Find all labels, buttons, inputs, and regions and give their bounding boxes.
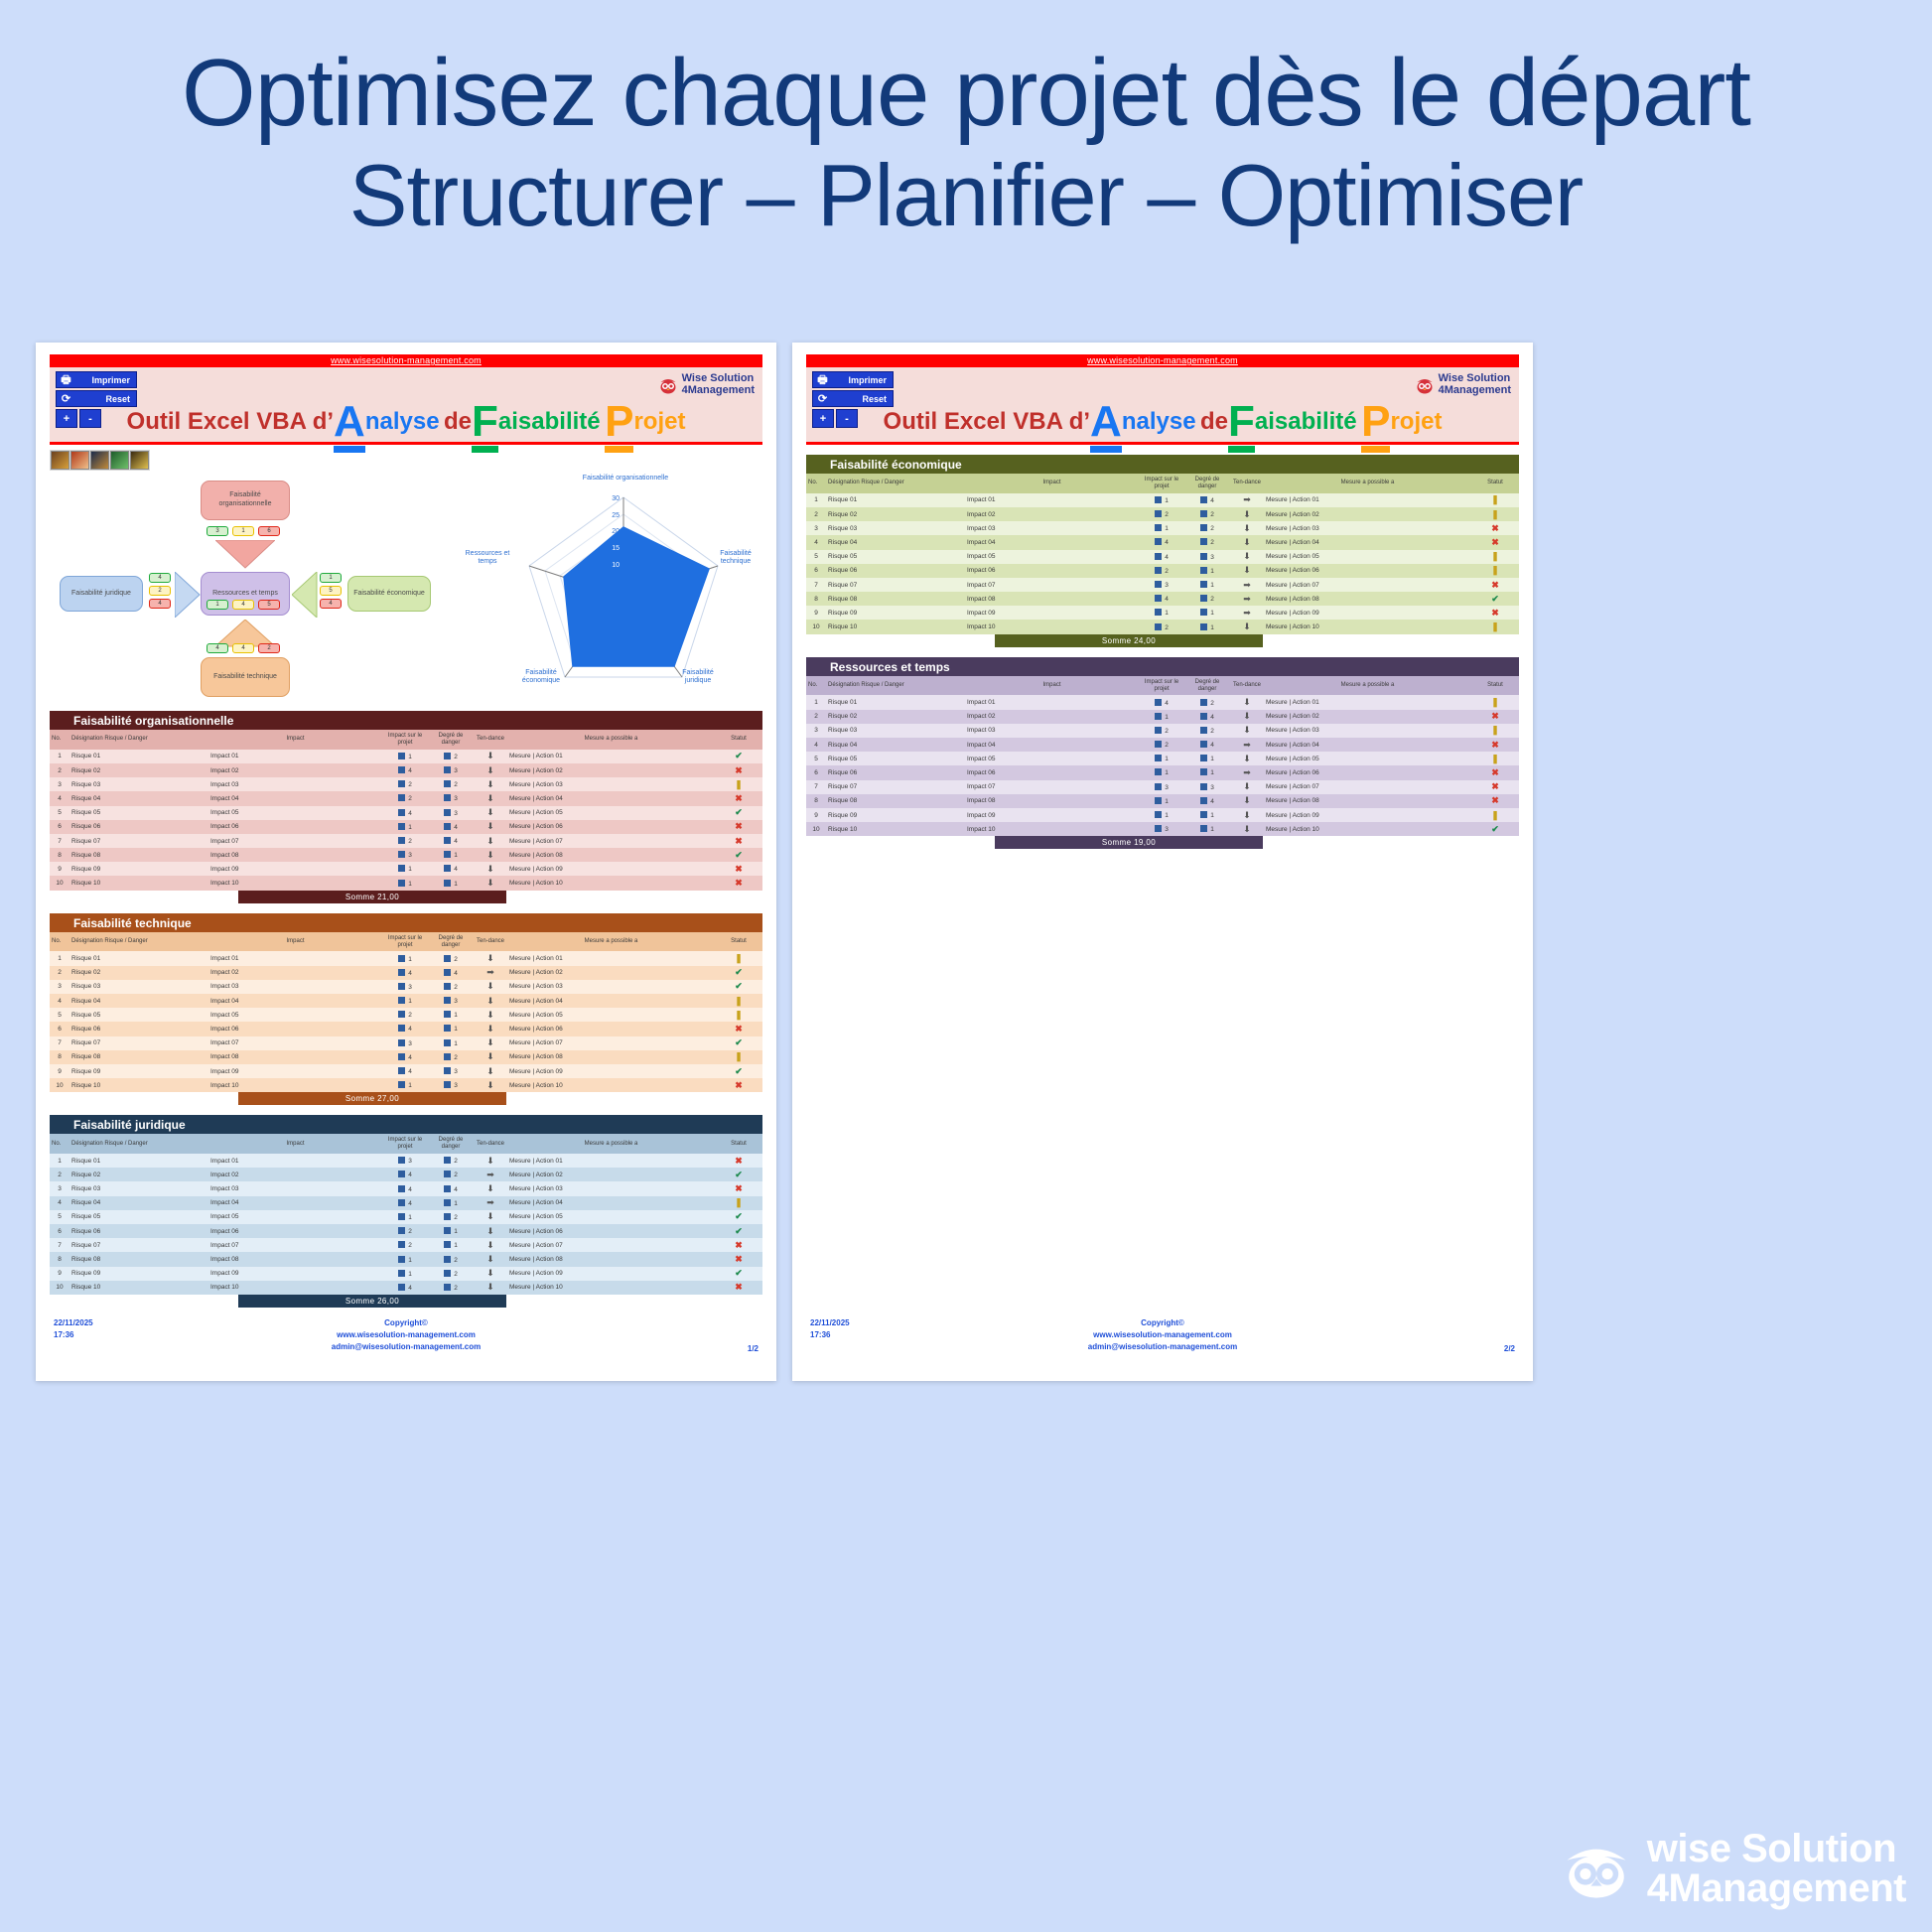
- cell-no: 1: [806, 695, 826, 709]
- cell-designation: Risque 04: [69, 791, 208, 805]
- watermark-line-1: wise Solution: [1647, 1827, 1896, 1870]
- cell-statut: ✖: [715, 862, 762, 876]
- cell-impact-projet: 1: [382, 1252, 428, 1266]
- cell-tendance: ➡: [1230, 578, 1264, 592]
- cell-mesure: Mesure | Action 02: [507, 1168, 715, 1181]
- status-ok-icon: ✔: [735, 1170, 743, 1179]
- cell-tendance: ⬇: [474, 1154, 507, 1168]
- cell-impact: Impact 10: [965, 620, 1139, 633]
- cell-degre-danger: 4: [1184, 794, 1230, 808]
- chips-juridique: 4 2 4: [149, 573, 171, 609]
- balance-scale-icon[interactable]: [90, 451, 109, 470]
- page-2-footer: 22/11/2025 17:36 Copyright© www.wisesolu…: [806, 1317, 1519, 1353]
- table-row[interactable]: 10Risque 10Impact 1011⬇Mesure | Action 1…: [50, 876, 762, 890]
- cell-degre-danger: 2: [1184, 592, 1230, 606]
- cell-no: 3: [806, 521, 826, 535]
- table-row[interactable]: 4Risque 04Impact 0441➡Mesure | Action 04…: [50, 1196, 762, 1210]
- mini-icon-toolbar[interactable]: [50, 450, 150, 471]
- table-row[interactable]: 1Risque 01Impact 0132⬇Mesure | Action 01…: [50, 1154, 762, 1168]
- trend-down-icon: ⬇: [486, 821, 494, 831]
- cell-impact: Impact 04: [208, 1196, 382, 1210]
- table-row[interactable]: 5Risque 05Impact 0543⬇Mesure | Action 05…: [50, 806, 762, 820]
- bar-icon: [444, 1171, 451, 1177]
- footer-page-number: 1/2: [748, 1344, 759, 1353]
- status-no-icon: ✖: [735, 1156, 743, 1166]
- sum-value-technique: Somme 27,00: [238, 1092, 506, 1105]
- table-row[interactable]: 2Risque 02Impact 0214⬇Mesure | Action 02…: [806, 710, 1519, 724]
- cell-impact: Impact 05: [208, 1210, 382, 1224]
- bar-icon: [1155, 741, 1162, 748]
- cell-mesure: Mesure | Action 01: [1264, 695, 1471, 709]
- cell-mesure: Mesure | Action 10: [507, 1281, 715, 1295]
- cell-impact-projet: 1: [382, 1267, 428, 1281]
- table-row[interactable]: 6Risque 06Impact 0641⬇Mesure | Action 06…: [50, 1022, 762, 1035]
- cell-mesure: Mesure | Action 05: [507, 1210, 715, 1224]
- footer-email[interactable]: admin@wisesolution-management.com: [50, 1341, 762, 1353]
- sum-value-juridique: Somme 26,00: [238, 1295, 506, 1308]
- table-row[interactable]: 9Risque 09Impact 0912⬇Mesure | Action 09…: [50, 1267, 762, 1281]
- bar-icon: [444, 1284, 451, 1291]
- table-row[interactable]: 9Risque 09Impact 0911➡Mesure | Action 09…: [806, 606, 1519, 620]
- cell-degre-danger: 3: [428, 1064, 474, 1078]
- cell-degre-danger: 4: [1184, 710, 1230, 724]
- money-icon[interactable]: [110, 451, 129, 470]
- cell-statut: ✖: [1471, 535, 1519, 549]
- cell-designation: Risque 09: [69, 1064, 208, 1078]
- arrow-right-jur: [175, 572, 201, 618]
- cell-degre-danger: 1: [428, 1008, 474, 1022]
- table-row[interactable]: 3Risque 03Impact 0332⬇Mesure | Action 03…: [50, 980, 762, 994]
- table-row[interactable]: 5Risque 05Impact 0543⬇Mesure | Action 05…: [806, 550, 1519, 564]
- table-row[interactable]: 9Risque 09Impact 0914⬇Mesure | Action 09…: [50, 862, 762, 876]
- bar-icon: [398, 1171, 405, 1177]
- column-header-1: Désignation Risque / Danger: [826, 474, 965, 493]
- bar-icon: [398, 983, 405, 990]
- cell-designation: Risque 05: [826, 752, 965, 765]
- cell-designation: Risque 04: [826, 738, 965, 752]
- table-row[interactable]: 5Risque 05Impact 0512⬇Mesure | Action 05…: [50, 1210, 762, 1224]
- cell-designation: Risque 02: [826, 710, 965, 724]
- cell-mesure: Mesure | Action 06: [507, 1224, 715, 1238]
- cell-no: 4: [806, 738, 826, 752]
- node-organisationnelle[interactable]: Faisabilité organisationnelle: [201, 481, 290, 520]
- cell-tendance: ⬇: [474, 1238, 507, 1252]
- cell-impact-projet: 1: [382, 1078, 428, 1092]
- footer-datetime: 22/11/2025 17:36: [54, 1317, 93, 1341]
- cell-designation: Risque 02: [826, 507, 965, 521]
- cell-impact: Impact 08: [208, 1252, 382, 1266]
- footer-copyright: Copyright©: [50, 1317, 762, 1329]
- cell-tendance: ⬇: [1230, 550, 1264, 564]
- bar-icon: [444, 1241, 451, 1248]
- table-row[interactable]: 4Risque 04Impact 0442⬇Mesure | Action 04…: [806, 535, 1519, 549]
- cell-tendance: ⬇: [1230, 564, 1264, 578]
- table-row[interactable]: 10Risque 10Impact 1021⬇Mesure | Action 1…: [806, 620, 1519, 633]
- bar-icon: [398, 865, 405, 872]
- column-header-7: Statut: [1471, 474, 1519, 493]
- footer-website[interactable]: www.wisesolution-management.com: [50, 1329, 762, 1341]
- column-header-2: Impact: [208, 730, 382, 750]
- status-wa-icon: ❚: [1491, 725, 1499, 735]
- cell-tendance: ➡: [474, 1196, 507, 1210]
- status-wa-icon: ❚: [735, 996, 743, 1006]
- radar-label-2-text: Faisabilité juridique: [682, 669, 714, 684]
- table-row[interactable]: 9Risque 09Impact 0943⬇Mesure | Action 09…: [50, 1064, 762, 1078]
- cell-statut: ✖: [715, 820, 762, 834]
- cell-designation: Risque 02: [69, 1168, 208, 1181]
- risk-table-juridique: No.Désignation Risque / DangerImpactImpa…: [50, 1134, 762, 1295]
- cell-degre-danger: 3: [428, 994, 474, 1008]
- node-economique[interactable]: Faisabilité économique: [347, 576, 431, 612]
- table-row[interactable]: 4Risque 04Impact 0423⬇Mesure | Action 04…: [50, 791, 762, 805]
- sum-value-organisationnelle: Somme 21,00: [238, 891, 506, 903]
- trend-down-icon: ⬇: [486, 836, 494, 846]
- cell-mesure: Mesure | Action 02: [507, 763, 715, 777]
- header-website-link-p2[interactable]: www.wisesolution-management.com: [806, 354, 1519, 367]
- status-no-icon: ✖: [1491, 523, 1499, 533]
- trend-down-icon: ⬇: [486, 1183, 494, 1193]
- cell-tendance: ⬇: [474, 777, 507, 791]
- cell-impact-projet: 4: [382, 806, 428, 820]
- bar-icon: [1155, 553, 1162, 560]
- status-ok-icon: ✔: [1491, 824, 1499, 834]
- table-row[interactable]: 3Risque 03Impact 0344⬇Mesure | Action 03…: [50, 1181, 762, 1195]
- page-2-tables: Faisabilité économiqueNo.Désignation Ris…: [806, 455, 1519, 849]
- trend-down-icon: ⬇: [486, 751, 494, 760]
- cell-impact: Impact 06: [965, 564, 1139, 578]
- table-row[interactable]: 7Risque 07Impact 0724⬇Mesure | Action 07…: [50, 834, 762, 848]
- cell-designation: Risque 05: [69, 1210, 208, 1224]
- cell-mesure: Mesure | Action 08: [1264, 794, 1471, 808]
- cell-designation: Risque 04: [69, 1196, 208, 1210]
- cell-impact: Impact 07: [208, 1036, 382, 1050]
- radar-label-ressources: Ressources et temps: [461, 550, 514, 567]
- bar-icon: [444, 1053, 451, 1060]
- cell-statut: ✖: [1471, 794, 1519, 808]
- cell-designation: Risque 06: [69, 1022, 208, 1035]
- cell-tendance: ⬇: [1230, 822, 1264, 836]
- cell-statut: ✔: [715, 848, 762, 862]
- table-row[interactable]: 2Risque 02Impact 0222⬇Mesure | Action 02…: [806, 507, 1519, 521]
- bar-icon: [1155, 713, 1162, 720]
- cell-impact: Impact 09: [965, 808, 1139, 822]
- status-wa-icon: ❚: [1491, 494, 1499, 504]
- trend-down-icon: ⬇: [486, 1268, 494, 1278]
- cell-no: 5: [806, 550, 826, 564]
- chip-green-eco: 1: [320, 573, 342, 583]
- chips-technique: 4 4 2: [207, 643, 280, 653]
- trend-right-icon: ➡: [1243, 608, 1251, 618]
- cell-mesure: Mesure | Action 07: [1264, 780, 1471, 794]
- cell-degre-danger: 4: [428, 1181, 474, 1195]
- cell-impact-projet: 1: [382, 994, 428, 1008]
- cell-statut: ✖: [715, 876, 762, 890]
- cell-designation: Risque 03: [826, 521, 965, 535]
- radar-label-economique: Faisabilité économique: [514, 669, 568, 686]
- cell-degre-danger: 1: [428, 1196, 474, 1210]
- trend-down-icon: ⬇: [486, 1024, 494, 1034]
- cell-impact-projet: 1: [1139, 521, 1184, 535]
- cell-impact-projet: 2: [1139, 507, 1184, 521]
- status-ok-icon: ✔: [1491, 594, 1499, 604]
- cell-no: 1: [50, 750, 69, 763]
- app-header-bar-p2: 🖶 Imprimer ⟳ Reset + -: [806, 367, 1519, 445]
- table-row[interactable]: 6Risque 06Impact 0614⬇Mesure | Action 06…: [50, 820, 762, 834]
- cell-designation: Risque 10: [69, 876, 208, 890]
- table-row[interactable]: 6Risque 06Impact 0611➡Mesure | Action 06…: [806, 765, 1519, 779]
- handshake-icon[interactable]: [70, 451, 89, 470]
- status-no-icon: ✖: [1491, 795, 1499, 805]
- cell-degre-danger: 2: [1184, 535, 1230, 549]
- cell-no: 7: [50, 834, 69, 848]
- chips-organisationnelle: 3 1 6: [207, 526, 280, 536]
- table-row[interactable]: 8Risque 08Impact 0831⬇Mesure | Action 08…: [50, 848, 762, 862]
- table-row[interactable]: 10Risque 10Impact 1042⬇Mesure | Action 1…: [50, 1281, 762, 1295]
- cell-impact: Impact 02: [965, 710, 1139, 724]
- bar-icon: [398, 969, 405, 976]
- table-row[interactable]: 5Risque 05Impact 0511⬇Mesure | Action 05…: [806, 752, 1519, 765]
- brainstorm-icon[interactable]: [51, 451, 69, 470]
- cell-mesure: Mesure | Action 01: [507, 951, 715, 965]
- status-ok-icon: ✔: [735, 850, 743, 860]
- cell-mesure: Mesure | Action 09: [1264, 808, 1471, 822]
- cell-degre-danger: 2: [428, 1281, 474, 1295]
- cell-statut: ✖: [715, 1181, 762, 1195]
- table-row[interactable]: 7Risque 07Impact 0721⬇Mesure | Action 07…: [50, 1238, 762, 1252]
- chip-green-jur: 4: [149, 573, 171, 583]
- page-1-footer: 22/11/2025 17:36 Copyright© www.wisesolu…: [50, 1317, 762, 1353]
- status-ok-icon: ✔: [735, 1037, 743, 1047]
- cell-impact-projet: 1: [1139, 752, 1184, 765]
- cell-impact-projet: 4: [382, 1050, 428, 1064]
- table-row[interactable]: 2Risque 02Impact 0242➡Mesure | Action 02…: [50, 1168, 762, 1181]
- trend-down-icon: ⬇: [486, 765, 494, 775]
- cell-statut: ✖: [715, 1252, 762, 1266]
- cell-no: 6: [806, 765, 826, 779]
- cell-statut: ✔: [715, 1267, 762, 1281]
- trend-down-icon: ⬇: [486, 996, 494, 1006]
- footer-center-p2: Copyright© www.wisesolution-management.c…: [806, 1317, 1519, 1353]
- cell-no: 8: [806, 592, 826, 606]
- table-row[interactable]: 8Risque 08Impact 0842⬇Mesure | Action 08…: [50, 1050, 762, 1064]
- cell-degre-danger: 2: [428, 1267, 474, 1281]
- word-nalyse-p2: nalyse: [1122, 408, 1196, 435]
- bar-icon: [1155, 538, 1162, 545]
- cell-tendance: ⬇: [1230, 752, 1264, 765]
- header-website-link[interactable]: www.wisesolution-management.com: [50, 354, 762, 367]
- node-technique[interactable]: Faisabilité technique: [201, 657, 290, 697]
- bar-icon: [398, 1025, 405, 1032]
- table-row[interactable]: 3Risque 03Impact 0322⬇Mesure | Action 03…: [50, 777, 762, 791]
- cap-a-p2: A: [1090, 397, 1122, 453]
- table-row[interactable]: 1Risque 01Impact 0114➡Mesure | Action 01…: [806, 493, 1519, 507]
- table-row[interactable]: 1Risque 01Impact 0142⬇Mesure | Action 01…: [806, 695, 1519, 709]
- table-row[interactable]: 7Risque 07Impact 0731⬇Mesure | Action 07…: [50, 1036, 762, 1050]
- bar-icon: [398, 780, 405, 787]
- cell-no: 6: [50, 1022, 69, 1035]
- cell-impact: Impact 09: [208, 1267, 382, 1281]
- cell-impact-projet: 2: [1139, 724, 1184, 738]
- cell-no: 1: [806, 493, 826, 507]
- footer-date: 22/11/2025: [54, 1317, 93, 1329]
- table-row[interactable]: 8Risque 08Impact 0812⬇Mesure | Action 08…: [50, 1252, 762, 1266]
- cell-impact-projet: 4: [382, 763, 428, 777]
- cell-designation: Risque 01: [69, 750, 208, 763]
- node-juridique-label: Faisabilité juridique: [71, 590, 131, 599]
- footer-website-p2[interactable]: www.wisesolution-management.com: [806, 1329, 1519, 1341]
- column-header-6: Mesure a possible a: [507, 1134, 715, 1154]
- footer-email-p2[interactable]: admin@wisesolution-management.com: [806, 1341, 1519, 1353]
- node-ressources-label: Ressources et temps: [212, 590, 278, 599]
- cell-tendance: ⬇: [474, 1022, 507, 1035]
- table-row[interactable]: 2Risque 02Impact 0244➡Mesure | Action 02…: [50, 966, 762, 980]
- app-title-p2: Outil Excel VBA d’Analyse deFaisabilité …: [806, 397, 1519, 436]
- cell-designation: Risque 01: [826, 695, 965, 709]
- cell-tendance: ➡: [474, 1168, 507, 1181]
- cell-designation: Risque 10: [69, 1281, 208, 1295]
- status-ok-icon: ✔: [735, 1226, 743, 1236]
- cell-tendance: ⬇: [474, 791, 507, 805]
- cell-tendance: ⬇: [474, 1281, 507, 1295]
- cell-tendance: ⬇: [1230, 710, 1264, 724]
- cell-statut: ❚: [715, 1008, 762, 1022]
- cell-designation: Risque 01: [826, 493, 965, 507]
- table-row[interactable]: 6Risque 06Impact 0621⬇Mesure | Action 06…: [50, 1224, 762, 1238]
- status-wa-icon: ❚: [735, 1010, 743, 1020]
- bar-icon: [1200, 538, 1207, 545]
- column-header-4: Degré de danger: [428, 730, 474, 750]
- cell-impact: Impact 06: [208, 820, 382, 834]
- table-row[interactable]: 7Risque 07Impact 0731➡Mesure | Action 07…: [806, 578, 1519, 592]
- table-row[interactable]: 5Risque 05Impact 0521⬇Mesure | Action 05…: [50, 1008, 762, 1022]
- cell-degre-danger: 1: [1184, 808, 1230, 822]
- status-wa-icon: ❚: [1491, 509, 1499, 519]
- cell-degre-danger: 2: [428, 1252, 474, 1266]
- table-row[interactable]: 2Risque 02Impact 0243⬇Mesure | Action 02…: [50, 763, 762, 777]
- status-no-icon: ✖: [735, 821, 743, 831]
- table-juridique: Faisabilité juridiqueNo.Désignation Risq…: [50, 1115, 762, 1308]
- cell-tendance: ⬇: [474, 876, 507, 890]
- table-organisationnelle: Faisabilité organisationnelleNo.Désignat…: [50, 711, 762, 903]
- cell-tendance: ⬇: [474, 980, 507, 994]
- cell-statut: ❚: [715, 1050, 762, 1064]
- radar-label-juridique: Faisabilité juridique: [671, 669, 725, 686]
- print-button[interactable]: 🖶 Imprimer: [56, 371, 137, 388]
- cell-impact: Impact 02: [208, 1168, 382, 1181]
- table-technique: Faisabilité techniqueNo.Désignation Risq…: [50, 913, 762, 1106]
- cell-degre-danger: 4: [428, 820, 474, 834]
- cell-statut: ✖: [715, 1281, 762, 1295]
- clock-icon[interactable]: [130, 451, 149, 470]
- chip-yellow-eco: 5: [320, 586, 342, 596]
- cell-degre-danger: 2: [428, 980, 474, 994]
- bar-icon: [444, 1227, 451, 1234]
- cell-impact-projet: 2: [382, 834, 428, 848]
- cell-impact: Impact 07: [965, 578, 1139, 592]
- cell-tendance: ⬇: [1230, 620, 1264, 633]
- cell-degre-danger: 2: [1184, 724, 1230, 738]
- table-row[interactable]: 4Risque 04Impact 0424➡Mesure | Action 04…: [806, 738, 1519, 752]
- cell-mesure: Mesure | Action 05: [507, 1008, 715, 1022]
- status-wa-icon: ❚: [735, 1051, 743, 1061]
- bar-icon: [1155, 609, 1162, 616]
- cell-designation: Risque 09: [69, 1267, 208, 1281]
- table-row[interactable]: 7Risque 07Impact 0733⬇Mesure | Action 07…: [806, 780, 1519, 794]
- bar-icon: [398, 794, 405, 801]
- cell-no: 9: [806, 606, 826, 620]
- status-no-icon: ✖: [1491, 740, 1499, 750]
- cell-impact-projet: 2: [382, 777, 428, 791]
- trend-down-icon: ⬇: [1243, 725, 1251, 735]
- column-header-1: Désignation Risque / Danger: [69, 932, 208, 952]
- bar-icon: [444, 1011, 451, 1018]
- cell-statut: ❚: [1471, 550, 1519, 564]
- status-no-icon: ✖: [1491, 608, 1499, 618]
- table-row[interactable]: 9Risque 09Impact 0911⬇Mesure | Action 09…: [806, 808, 1519, 822]
- cell-no: 6: [50, 1224, 69, 1238]
- word-nalyse: nalyse: [365, 408, 440, 435]
- cell-no: 10: [50, 1078, 69, 1092]
- cell-statut: ❚: [1471, 808, 1519, 822]
- bar-icon: [1155, 524, 1162, 531]
- chips-ressources: 1 4 5: [207, 600, 280, 610]
- table-row[interactable]: 4Risque 04Impact 0413⬇Mesure | Action 04…: [50, 994, 762, 1008]
- trend-down-icon: ⬇: [1243, 697, 1251, 707]
- print-button-p2[interactable]: 🖶 Imprimer: [812, 371, 894, 388]
- trend-right-icon: ➡: [486, 967, 494, 977]
- status-wa-icon: ❚: [735, 953, 743, 963]
- cell-no: 10: [806, 822, 826, 836]
- chip-green-org: 3: [207, 526, 228, 536]
- cell-no: 2: [50, 763, 69, 777]
- app-title-prefix-p2: Outil Excel VBA d’: [884, 408, 1091, 435]
- table-row[interactable]: 8Risque 08Impact 0814⬇Mesure | Action 08…: [806, 794, 1519, 808]
- bar-icon: [1200, 783, 1207, 790]
- column-header-7: Statut: [715, 1134, 762, 1154]
- table-row[interactable]: 3Risque 03Impact 0312⬇Mesure | Action 03…: [806, 521, 1519, 535]
- table-title-juridique: Faisabilité juridique: [50, 1115, 762, 1134]
- cell-tendance: ⬇: [474, 806, 507, 820]
- bar-icon: [444, 823, 451, 830]
- table-row[interactable]: 3Risque 03Impact 0322⬇Mesure | Action 03…: [806, 724, 1519, 738]
- bar-icon: [444, 809, 451, 816]
- table-row[interactable]: 6Risque 06Impact 0621⬇Mesure | Action 06…: [806, 564, 1519, 578]
- cell-tendance: ⬇: [474, 834, 507, 848]
- printer-icon-p2: 🖶: [815, 373, 830, 387]
- bar-icon: [1155, 699, 1162, 706]
- cap-f: F: [472, 397, 498, 453]
- cell-no: 8: [806, 794, 826, 808]
- table-row[interactable]: 1Risque 01Impact 0112⬇Mesure | Action 01…: [50, 750, 762, 763]
- bar-icon: [398, 1185, 405, 1192]
- bar-icon: [444, 969, 451, 976]
- headline-line-1: Optimisez chaque projet dès le départ: [0, 40, 1932, 147]
- node-juridique[interactable]: Faisabilité juridique: [60, 576, 143, 612]
- column-header-0: No.: [50, 730, 69, 750]
- table-row[interactable]: 8Risque 08Impact 0842➡Mesure | Action 08…: [806, 592, 1519, 606]
- owl-icon-p2: [1415, 375, 1435, 395]
- table-row[interactable]: 10Risque 10Impact 1031⬇Mesure | Action 1…: [806, 822, 1519, 836]
- status-wa-icon: ❚: [1491, 621, 1499, 631]
- table-row[interactable]: 10Risque 10Impact 1013⬇Mesure | Action 1…: [50, 1078, 762, 1092]
- bar-icon: [1155, 783, 1162, 790]
- table-title-ressources: Ressources et temps: [806, 657, 1519, 676]
- bar-icon: [1155, 755, 1162, 761]
- trend-down-icon: ⬇: [486, 1211, 494, 1221]
- cell-impact: Impact 09: [208, 1064, 382, 1078]
- bar-icon: [1200, 609, 1207, 616]
- table-row[interactable]: 1Risque 01Impact 0112⬇Mesure | Action 01…: [50, 951, 762, 965]
